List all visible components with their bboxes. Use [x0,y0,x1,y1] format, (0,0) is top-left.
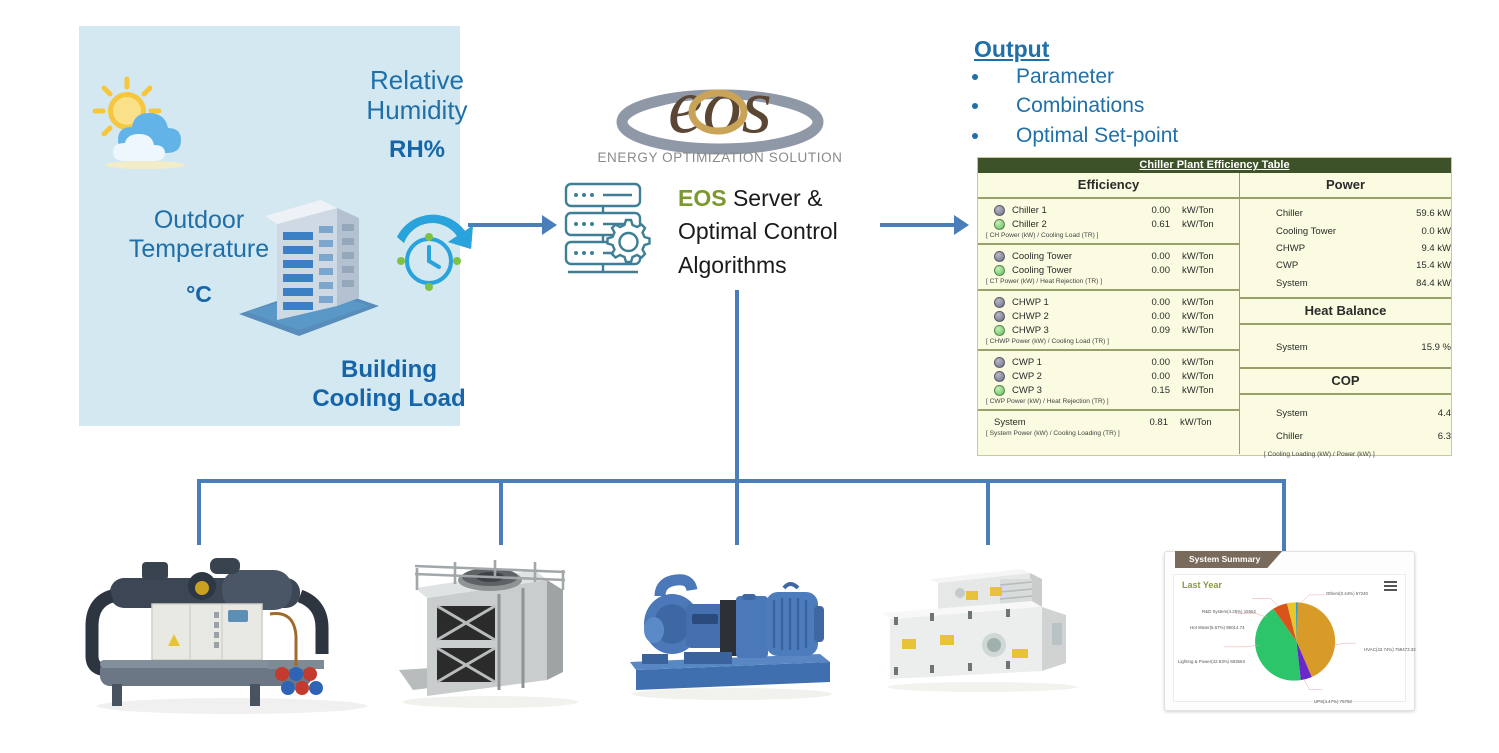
connector-drop-ahu [986,479,990,545]
power-row: Chiller 59.6 kW [1240,205,1451,222]
power-row: Cooling Tower 0.0 kW [1240,222,1451,239]
pie-label-rd-system: R&D System(4.25%) 15562 [1202,609,1256,615]
heat-balance-row: System 15.9 % [1240,339,1451,367]
power-column-header: Power [1240,173,1451,199]
row-name: System [1276,342,1381,353]
status-led-icon [994,311,1005,322]
building-icon [229,186,389,346]
table-row: Chiller 2 0.61 kW/Ton [978,217,1239,231]
rh-line-2: Humidity [332,96,502,126]
table-row: CWP 3 0.15 kW/Ton [978,383,1239,397]
row-name: System [994,417,1128,428]
bcl-line-2: Cooling Load [259,385,519,414]
group-note: [ CH Power (kW) / Cooling Load (TR) ] [978,231,1239,241]
status-led-icon [994,251,1005,262]
row-unit: kW/Ton [1170,325,1214,336]
pie-label-hot-water: Hot Water(6.57%) 85014.74 [1190,625,1245,631]
eos-brand-label: EOS [678,185,727,211]
table-row: Chiller 1 0.00 kW/Ton [978,203,1239,217]
row-value: 0.81 [1128,417,1168,428]
connector-horizontal-bus [197,479,1286,483]
connector-drop-chiller [197,479,201,545]
row-unit: kW/Ton [1170,265,1214,276]
pump-image [624,566,839,701]
efficiency-group-system: System 0.81 kW/Ton [ System Power (kW) /… [978,411,1239,441]
cop-row: Chiller 6.3 [1240,428,1451,445]
status-led-icon [994,205,1005,216]
cooling-tower-image [395,560,585,710]
eos-caption-rest: Server & [727,185,823,211]
row-name: CHWP [1276,243,1381,254]
rh-line-1: Relative [332,66,502,96]
system-summary-dashboard[interactable]: System Summary Last Year [1164,551,1415,711]
row-name: Chiller [1276,208,1381,219]
relative-humidity-value: RH% [332,136,502,164]
efficiency-column: Efficiency Chiller 1 0.00 kW/Ton Chiller… [978,173,1240,454]
row-unit: kW/Ton [1170,371,1214,382]
row-value: 0.0 kW [1381,226,1451,237]
table-row: CHWP 2 0.00 kW/Ton [978,309,1239,323]
table-row: Cooling Tower 0.00 kW/Ton [978,249,1239,263]
heat-balance-header: Heat Balance [1240,297,1451,325]
group-note: [ CWP Power (kW) / Heat Rejection (TR) ] [978,397,1239,407]
output-item-combinations: Combinations [966,92,1178,119]
table-row: CWP 1 0.00 kW/Ton [978,355,1239,369]
row-value: 0.00 [1130,205,1170,216]
output-item-optimal-set-point: Optimal Set-point [966,122,1178,149]
arrow-eos-to-output [880,213,970,237]
row-value: 9.4 kW [1381,243,1451,254]
chiller-plant-efficiency-table: Chiller Plant Efficiency Table Efficienc… [977,157,1452,456]
cop-row: System 4.4 [1240,405,1451,428]
eos-caption-line2: Optimal Control [678,218,838,244]
output-heading: Output [974,36,1049,63]
row-name: CHWP 1 [1012,297,1130,308]
eos-caption-line3: Algorithms [678,252,787,278]
row-unit: kW/Ton [1170,251,1214,262]
cop-header: COP [1240,367,1451,395]
dashboard-tab-label[interactable]: System Summary [1175,551,1282,568]
row-value: 15.9 % [1381,342,1451,353]
diagram-canvas: Relative Humidity RH% Outdoor Temperatur… [0,0,1499,753]
row-unit: kW/Ton [1168,417,1212,428]
connector-drop-dashboard [1282,479,1286,555]
output-list: Parameter Combinations Optimal Set-point [966,63,1178,151]
power-column: Power Chiller 59.6 kW Cooling Tower 0.0 … [1240,173,1451,454]
pie-label-ups: UPS(4.47%) 76793 [1314,699,1352,705]
status-led-icon [994,371,1005,382]
row-value: 0.00 [1130,251,1170,262]
energy-breakdown-pie-chart [1174,589,1405,701]
status-led-icon [994,357,1005,368]
status-led-icon [994,297,1005,308]
row-value: 0.00 [1130,297,1170,308]
row-value: 4.4 [1381,408,1451,419]
row-name: CWP 2 [1012,371,1130,382]
efficiency-group-cooling-tower: Cooling Tower 0.00 kW/Ton Cooling Tower … [978,245,1239,291]
power-row: System 84.4 kW [1240,275,1451,297]
row-name: System [1276,408,1381,419]
connector-drop-pump [735,479,739,545]
row-name: Chiller 2 [1012,219,1130,230]
efficiency-group-chwp: CHWP 1 0.00 kW/Ton CHWP 2 0.00 kW/Ton CH… [978,291,1239,351]
efficiency-group-cwp: CWP 1 0.00 kW/Ton CWP 2 0.00 kW/Ton CWP … [978,351,1239,411]
input-panel: Relative Humidity RH% Outdoor Temperatur… [79,26,460,426]
status-led-icon [994,385,1005,396]
table-row: CHWP 1 0.00 kW/Ton [978,295,1239,309]
table-row: CWP 2 0.00 kW/Ton [978,369,1239,383]
chiller-image [82,556,372,716]
row-value: 0.00 [1130,371,1170,382]
row-name: CWP 1 [1012,357,1130,368]
eos-logo-subtitle: ENERGY OPTIMIZATION SOLUTION [575,150,865,165]
cop-note: [ Cooling Loading (kW) / Power (kW) ] [1240,445,1451,458]
row-value: 0.00 [1130,265,1170,276]
row-value: 0.00 [1130,357,1170,368]
power-row: CWP 15.4 kW [1240,257,1451,274]
row-value: 59.6 kW [1381,208,1451,219]
row-unit: kW/Ton [1170,219,1214,230]
row-name: Cooling Tower [1012,251,1130,262]
status-led-icon [994,219,1005,230]
dashboard-body: Last Year [1173,574,1406,702]
pie-label-lighting-power: Lighting & Power(42.53%) 683563 [1178,659,1245,665]
pie-label-others: Others(0.44%) 67240 [1326,591,1368,597]
row-unit: kW/Ton [1170,385,1214,396]
row-name: Chiller [1276,431,1381,442]
row-name: CWP 3 [1012,385,1130,396]
row-value: 0.15 [1130,385,1170,396]
row-value: 0.09 [1130,325,1170,336]
bcl-line-1: Building [259,356,519,385]
row-unit: kW/Ton [1170,297,1214,308]
row-name: CHWP 3 [1012,325,1130,336]
row-name: Chiller 1 [1012,205,1130,216]
sun-cloud-icon [87,71,217,181]
svg-text:eos: eos [668,62,772,149]
row-name: CWP [1276,260,1381,271]
group-note: [ CT Power (kW) / Heat Rejection (TR) ] [978,277,1239,287]
ahu-image [882,567,1082,695]
status-led-icon [994,265,1005,276]
building-cooling-load-label: Building Cooling Load [259,356,519,414]
efficiency-group-chiller: Chiller 1 0.00 kW/Ton Chiller 2 0.61 kW/… [978,199,1239,245]
table-row: CHWP 3 0.09 kW/Ton [978,323,1239,337]
output-item-parameter: Parameter [966,63,1178,90]
row-value: 6.3 [1381,431,1451,442]
row-value: 0.00 [1130,311,1170,322]
server-gear-icon [558,178,658,278]
table-title: Chiller Plant Efficiency Table [978,158,1451,173]
status-led-icon [994,325,1005,336]
eos-caption: EOS Server & Optimal Control Algorithms [678,182,908,282]
table-row: Cooling Tower 0.00 kW/Ton [978,263,1239,277]
group-note: [ System Power (kW) / Cooling Loading (T… [978,429,1239,439]
row-name: Cooling Tower [1276,226,1381,237]
pie-label-hvac: HVAC(43.74%) 759473.32 [1364,647,1416,653]
row-name: System [1276,278,1381,289]
row-value: 0.61 [1130,219,1170,230]
row-value: 84.4 kW [1381,278,1451,289]
row-unit: kW/Ton [1170,311,1214,322]
row-unit: kW/Ton [1170,205,1214,216]
arrow-input-to-eos [468,213,558,237]
row-value: 15.4 kW [1381,260,1451,271]
relative-humidity-label: Relative Humidity [332,66,502,126]
row-name: CHWP 2 [1012,311,1130,322]
table-row: System 0.81 kW/Ton [978,415,1239,429]
connector-vertical-trunk [735,290,739,482]
row-unit: kW/Ton [1170,357,1214,368]
group-note: [ CHWP Power (kW) / Cooling Load (TR) ] [978,337,1239,347]
power-row: CHWP 9.4 kW [1240,240,1451,257]
efficiency-column-header: Efficiency [978,173,1239,199]
connector-drop-cooling-tower [499,479,503,545]
row-name: Cooling Tower [1012,265,1130,276]
